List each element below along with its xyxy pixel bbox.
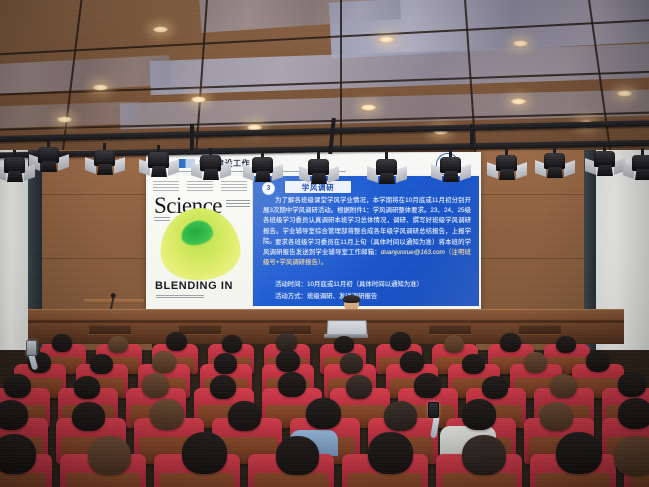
stage-spotlight (540, 146, 570, 180)
audience-head (390, 332, 411, 351)
smartphone-icon (428, 402, 439, 418)
audience-head (306, 398, 341, 429)
ceiling-grid-line (340, 0, 342, 168)
audience-head (0, 434, 36, 474)
audience-head (90, 354, 113, 374)
slide-paragraph-2: 要求各班级学习委员在11月上旬（具体时间以通知为准）将本班的学风调研报告发送到学… (263, 238, 471, 269)
audience-head (214, 353, 237, 374)
audience-head (368, 432, 413, 474)
audience-head (346, 375, 372, 399)
audience-head (276, 350, 300, 372)
audience-seating (0, 330, 649, 487)
magazine-publisher-lines (154, 217, 170, 222)
audience-head (72, 402, 105, 431)
slide-text-panel: 3 学风调研 为了解各班级课堂学风学业情况，本学期将在10月底或11月初分别开展… (253, 176, 479, 306)
stage-spotlight (304, 152, 334, 186)
ceiling-downlight (190, 96, 207, 103)
audience-head (4, 374, 31, 398)
audience-head (152, 351, 176, 373)
magazine-cover-line: BLENDING IN (155, 280, 233, 292)
stage-spotlight (196, 148, 226, 182)
stage-spotlight (628, 148, 649, 182)
audience-head (150, 399, 184, 430)
magazine-masthead-lines (226, 200, 250, 208)
stage-spotlight (0, 150, 30, 184)
audience-head (210, 375, 236, 399)
audience-head (482, 376, 508, 399)
audience-head (618, 398, 649, 429)
audience-head (556, 336, 576, 353)
truss-dropper (190, 124, 194, 150)
ceiling-downlight (360, 104, 377, 111)
audience-head (0, 400, 28, 430)
auditorium-photo: 学风建设工作 ★ Science BLENDING IN 3 (0, 0, 649, 487)
cover-teaser-lines (153, 181, 247, 191)
stage-spotlight (492, 148, 522, 182)
stage-spotlight (436, 150, 466, 184)
ceiling-downlight (56, 116, 73, 123)
stage-spotlight (372, 152, 402, 186)
audience-head (108, 336, 128, 353)
audience-head (444, 335, 464, 353)
ceiling-downlight (512, 40, 529, 47)
audience-head (462, 399, 496, 430)
ceiling-downlight (92, 84, 109, 91)
audience-head (166, 332, 187, 351)
audience-head (276, 436, 319, 475)
ceiling-downlight (378, 36, 395, 43)
audience-head (500, 333, 521, 352)
truss-dropper (470, 124, 474, 150)
audience-head (340, 353, 363, 374)
audience-head (384, 401, 417, 431)
stage-spotlight (34, 140, 64, 174)
audience-head (618, 372, 646, 397)
audience-head (142, 373, 169, 398)
slide-line-time-label: 活动时间： (275, 281, 307, 288)
audience-head (400, 351, 424, 373)
ceiling-downlight (510, 98, 527, 105)
audience-head (586, 350, 610, 372)
audience-head (52, 334, 72, 352)
audience-head (540, 402, 573, 431)
audience-head (182, 432, 227, 474)
ceiling-downlight (152, 26, 169, 33)
stage-spotlight (144, 145, 174, 179)
audience-head (334, 336, 354, 353)
audience-head (228, 401, 261, 431)
cover-subline (156, 295, 204, 299)
slide-line-mode-label: 活动方式： (275, 293, 307, 300)
audience-head (74, 376, 100, 399)
audience-head (524, 352, 547, 373)
slide-line-time-value: 10月底或11月初（具体时间以通知为准） (307, 281, 423, 288)
audience-head (278, 372, 306, 397)
audience-head (88, 436, 131, 475)
audience-head (222, 335, 242, 353)
science-magazine-cover: Science BLENDING IN (148, 176, 253, 306)
slide-line-time: 活动时间：10月底或11月初（具体时间以通知为准） (263, 280, 471, 290)
audience-head (614, 436, 649, 476)
ceiling-downlight (616, 90, 633, 97)
stage-spotlight (590, 144, 620, 178)
slide-content: Science BLENDING IN 3 学风调研 为了解各班级课堂学风学业情… (148, 176, 479, 306)
audience-head (414, 373, 441, 398)
smartphone-icon (26, 340, 37, 356)
audience-head (550, 374, 577, 398)
stage-spotlight (248, 150, 278, 184)
audience-head (462, 435, 506, 475)
stage-spotlight (90, 143, 120, 177)
audience-head (462, 354, 485, 374)
slide-contact-email: duanjunxue@163.com (381, 249, 445, 256)
audience-head (556, 432, 602, 474)
